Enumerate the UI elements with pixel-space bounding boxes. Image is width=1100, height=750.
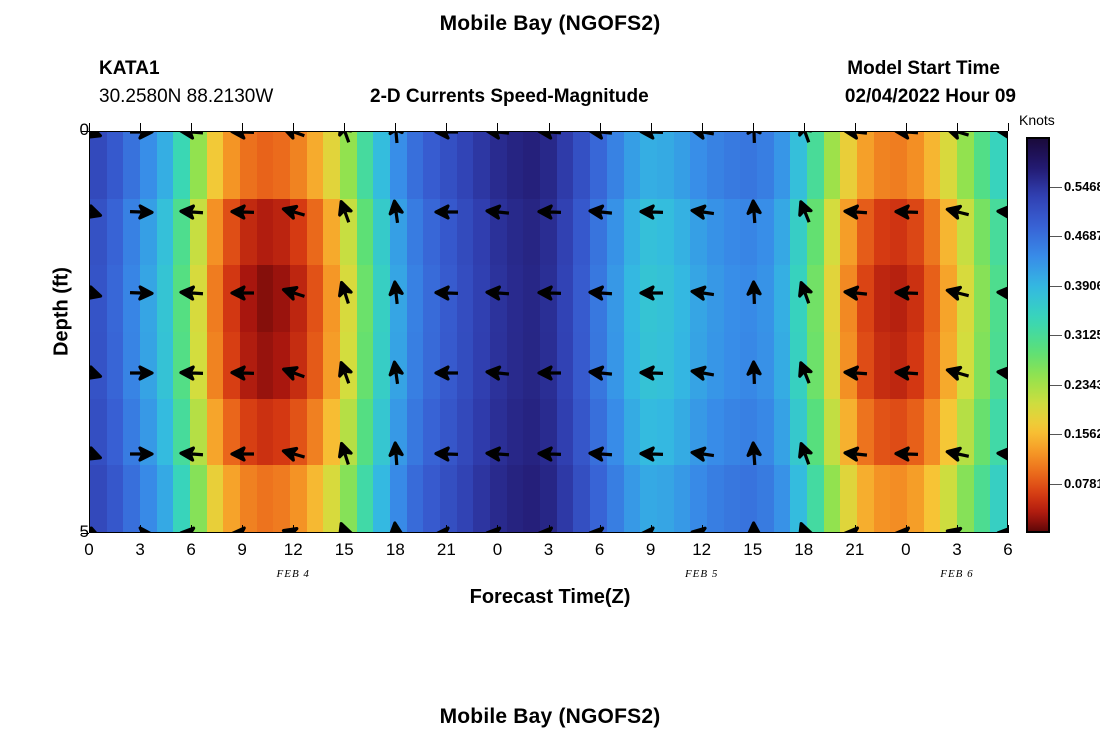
x-axis-tick-mark-top [191, 123, 192, 131]
heatmap-cell [173, 132, 190, 199]
heatmap-cell [590, 132, 607, 199]
heatmap-cell [423, 465, 440, 532]
heatmap-cell [490, 465, 507, 532]
current-vector-arrow [128, 365, 154, 381]
current-vector-arrow [537, 526, 563, 533]
heatmap-cell [257, 265, 274, 332]
current-vector-arrow [230, 446, 256, 462]
heatmap-cell [123, 132, 140, 199]
current-vector-arrow [281, 365, 307, 381]
current-vector-arrow [281, 204, 307, 220]
heatmap-cell [974, 132, 991, 199]
current-vector-arrow [843, 285, 869, 301]
current-vector-arrow [843, 204, 869, 220]
heatmap-cell [357, 265, 374, 332]
current-vector-arrow [741, 204, 767, 220]
current-vector-arrow [894, 365, 920, 381]
heatmap-cell [674, 132, 691, 199]
x-axis-tick-mark [906, 525, 907, 533]
current-vector-arrow [792, 131, 818, 140]
heatmap-cell [157, 265, 174, 332]
current-vector-arrow [434, 365, 460, 381]
heatmap-cell [340, 465, 357, 532]
current-vector-arrow [690, 365, 716, 381]
heatmap-cell [140, 465, 157, 532]
heatmap-cell [974, 332, 991, 399]
current-vector-arrow [843, 526, 869, 533]
heatmap-cell [874, 399, 891, 466]
heatmap-cell [707, 132, 724, 199]
current-vector-arrow [537, 131, 563, 140]
colorbar-tick-label: 0.3125 [1064, 327, 1100, 342]
heatmap-cell [824, 265, 841, 332]
heatmap-cell [540, 465, 557, 532]
heatmap-cell [757, 132, 774, 199]
current-vector-arrow [639, 365, 665, 381]
heatmap-cell [724, 465, 741, 532]
heatmap-cell [690, 465, 707, 532]
x-axis-tick-mark [804, 525, 805, 533]
x-axis-tick-mark [344, 525, 345, 533]
heatmap-cell [924, 132, 941, 199]
current-vector-arrow [894, 285, 920, 301]
heatmap-cell [674, 199, 691, 266]
x-axis-tick-mark-top [497, 123, 498, 131]
panel-subtitle: 2-D Currents Speed-Magnitude [370, 86, 649, 108]
x-axis-tick-label: 18 [375, 540, 415, 560]
heatmap-cell [323, 132, 340, 199]
heatmap-cell [373, 132, 390, 199]
heatmap-cell [807, 465, 824, 532]
current-vector-arrow [639, 446, 665, 462]
current-vector-arrow [434, 526, 460, 533]
heatmap-cell [724, 332, 741, 399]
heatmap-cell [890, 132, 907, 199]
x-axis-tick-mark [957, 525, 958, 533]
current-vector-arrow [281, 446, 307, 462]
heatmap-cell [490, 132, 507, 199]
current-vector-arrow [639, 204, 665, 220]
current-vector-arrow [537, 204, 563, 220]
x-axis-tick-mark [651, 525, 652, 533]
heatmap-cell [940, 465, 957, 532]
current-vector-arrow [230, 285, 256, 301]
heatmap-cell [373, 465, 390, 532]
current-vector-arrow [792, 365, 818, 381]
heatmap-cell [390, 465, 407, 532]
heatmap-cell [307, 465, 324, 532]
x-axis-tick-label: 0 [477, 540, 517, 560]
colorbar-tick-label: 0.07812 [1064, 476, 1100, 491]
current-vector-arrow [639, 131, 665, 140]
current-vector-arrow [741, 365, 767, 381]
heatmap-cell [107, 132, 124, 199]
heatmap-cell [257, 332, 274, 399]
y-axis-tick-mark [81, 533, 89, 534]
current-vector-arrow [230, 365, 256, 381]
x-axis-tick-mark [600, 525, 601, 533]
current-vector-arrow [843, 446, 869, 462]
heatmap-cell [257, 399, 274, 466]
current-vector-arrow [996, 526, 1008, 533]
current-vector-arrow [128, 526, 154, 533]
x-axis-tick-mark-top [753, 123, 754, 131]
current-vector-arrow [179, 131, 205, 140]
model-start-time-label: Model Start Time [847, 58, 1000, 80]
current-vector-arrow [894, 526, 920, 533]
current-vector-arrow [741, 446, 767, 462]
current-vector-arrow [996, 131, 1008, 140]
heatmap-cell [774, 265, 791, 332]
current-vector-arrow [485, 285, 511, 301]
current-vector-arrow [434, 204, 460, 220]
current-vector-arrow [383, 131, 409, 140]
heatmap-cell [573, 465, 590, 532]
heatmap-cell [190, 465, 207, 532]
heatmap-cell [157, 332, 174, 399]
x-axis-tick-mark-top [957, 123, 958, 131]
heatmap-cell [890, 465, 907, 532]
current-vector-arrow [179, 285, 205, 301]
x-axis-tick-mark-top [702, 123, 703, 131]
heatmap-cell [724, 199, 741, 266]
current-vector-arrow [89, 285, 103, 301]
heatmap-cell [273, 132, 290, 199]
current-vector-arrow [945, 131, 971, 140]
x-axis-tick-label: 6 [988, 540, 1028, 560]
current-vector-arrow [945, 526, 971, 533]
current-vector-arrow [945, 365, 971, 381]
x-axis-tick-mark [497, 525, 498, 533]
heatmap-cell [824, 465, 841, 532]
x-axis-tick-mark-top [293, 123, 294, 131]
heatmap-cell [307, 399, 324, 466]
x-axis-tick-mark [242, 525, 243, 533]
current-vector-arrow [894, 131, 920, 140]
x-axis-tick-mark [1008, 525, 1009, 533]
x-axis-tick-mark-top [140, 123, 141, 131]
current-vector-arrow [485, 204, 511, 220]
heatmap-cell [473, 465, 490, 532]
heatmap-cell [957, 465, 974, 532]
x-axis-tick-label: 3 [529, 540, 569, 560]
heatmap-plot-area [89, 131, 1008, 533]
current-vector-arrow [383, 526, 409, 533]
current-vector-arrow [179, 204, 205, 220]
heatmap-cell [974, 399, 991, 466]
heatmap-cell [624, 465, 641, 532]
heatmap-cell [690, 132, 707, 199]
heatmap-cell [307, 332, 324, 399]
heatmap-cell [590, 465, 607, 532]
current-vector-arrow [128, 204, 154, 220]
model-start-time-value: 02/04/2022 Hour 09 [845, 86, 1016, 108]
x-axis-tick-label: 6 [171, 540, 211, 560]
current-vector-arrow [179, 446, 205, 462]
heatmap-cell [223, 465, 240, 532]
heatmap-cell [824, 199, 841, 266]
x-axis-tick-mark-top [651, 123, 652, 131]
current-vector-arrow [537, 446, 563, 462]
colorbar-tick-label: 0.54687 [1064, 179, 1100, 194]
heatmap-cell [223, 132, 240, 199]
x-axis-tick-mark-top [549, 123, 550, 131]
x-axis-tick-mark [191, 525, 192, 533]
heatmap-cell [874, 132, 891, 199]
current-vector-arrow [741, 131, 767, 140]
current-vector-arrow [383, 365, 409, 381]
heatmap-cell [207, 332, 224, 399]
current-vector-arrow [332, 204, 358, 220]
x-axis-day-label: FEB 6 [922, 568, 992, 580]
heatmap-cell [323, 465, 340, 532]
heatmap-cell [257, 199, 274, 266]
heatmap-cell [257, 465, 274, 532]
current-vector-arrow [332, 526, 358, 533]
heatmap-cell [440, 132, 457, 199]
heatmap-cell [924, 199, 941, 266]
x-axis-tick-label: 3 [120, 540, 160, 560]
current-vector-arrow [690, 131, 716, 140]
heatmap-cell [824, 332, 841, 399]
heatmap-cell [990, 132, 1007, 199]
x-axis-tick-mark [549, 525, 550, 533]
heatmap-cell [707, 465, 724, 532]
current-vector-arrow [332, 285, 358, 301]
colorbar-tick-mark [1050, 434, 1062, 435]
current-vector-arrow [485, 365, 511, 381]
heatmap-cell [107, 399, 124, 466]
heatmap-cell [90, 132, 107, 199]
current-vector-arrow [537, 365, 563, 381]
current-vector-arrow [690, 204, 716, 220]
heatmap-depth-row [90, 132, 1007, 199]
current-vector-arrow [230, 131, 256, 140]
y-axis-tick-label: 0 [49, 120, 89, 140]
page-title: Mobile Bay (NGOFS2) [0, 12, 1100, 36]
heatmap-cell [207, 465, 224, 532]
heatmap-cell [357, 465, 374, 532]
heatmap-cell [157, 132, 174, 199]
heatmap-cell [157, 199, 174, 266]
heatmap-cell [857, 465, 874, 532]
heatmap-cell [307, 132, 324, 199]
current-vector-arrow [996, 285, 1008, 301]
heatmap-cell [624, 132, 641, 199]
heatmap-cell [857, 132, 874, 199]
x-axis-tick-label: 3 [937, 540, 977, 560]
heatmap-cell [107, 465, 124, 532]
heatmap-cell [774, 332, 791, 399]
heatmap-cell [123, 465, 140, 532]
heatmap-cell [874, 332, 891, 399]
x-axis-tick-mark [395, 525, 396, 533]
heatmap-cell [557, 465, 574, 532]
current-vector-arrow [996, 204, 1008, 220]
heatmap-cell [774, 132, 791, 199]
x-axis-tick-label: 0 [69, 540, 109, 560]
y-axis-label: Depth (ft) [51, 232, 74, 392]
x-axis-day-label: FEB 5 [667, 568, 737, 580]
heatmap-cell [840, 132, 857, 199]
heatmap-cell [307, 199, 324, 266]
heatmap-cell [724, 265, 741, 332]
current-vector-arrow [588, 204, 614, 220]
colorbar-tick-mark [1050, 484, 1062, 485]
heatmap-cell [240, 132, 257, 199]
current-vector-arrow [128, 446, 154, 462]
current-vector-arrow [281, 285, 307, 301]
heatmap-cell [90, 465, 107, 532]
current-vector-arrow [383, 446, 409, 462]
current-vector-arrow [639, 285, 665, 301]
current-vector-arrow [741, 526, 767, 533]
heatmap-cell [874, 465, 891, 532]
current-vector-arrow [89, 365, 103, 381]
colorbar-tick-mark [1050, 286, 1062, 287]
heatmap-cell [157, 399, 174, 466]
heatmap-cell [407, 465, 424, 532]
heatmap-cell [190, 132, 207, 199]
current-vector-arrow [485, 131, 511, 140]
current-vector-arrow [332, 365, 358, 381]
current-vector-arrow [179, 365, 205, 381]
heatmap-cell [674, 332, 691, 399]
x-axis-tick-mark [89, 525, 90, 533]
heatmap-cell [940, 132, 957, 199]
heatmap-cell [657, 132, 674, 199]
heatmap-cell [907, 465, 924, 532]
heatmap-cell [357, 132, 374, 199]
current-vector-arrow [434, 131, 460, 140]
current-vector-arrow [128, 131, 154, 140]
current-vector-arrow [843, 365, 869, 381]
x-axis-tick-mark [855, 525, 856, 533]
heatmap-cell [273, 465, 290, 532]
current-vector-arrow [383, 204, 409, 220]
heatmap-cell [573, 132, 590, 199]
heatmap-cell [107, 199, 124, 266]
colorbar-tick-label: 0.15625 [1064, 426, 1100, 441]
x-axis-tick-mark-top [1008, 123, 1009, 131]
colorbar-tick-label: 0.46875 [1064, 228, 1100, 243]
y-axis-tick-mark [81, 131, 89, 132]
heatmap-cell [924, 332, 941, 399]
heatmap-cell [957, 132, 974, 199]
heatmap-cell [407, 132, 424, 199]
heatmap-cell [507, 465, 524, 532]
current-vector-arrow [89, 131, 103, 140]
heatmap-cell [774, 199, 791, 266]
heatmap-cell [757, 465, 774, 532]
colorbar [1026, 137, 1050, 533]
colorbar-tick-mark [1050, 236, 1062, 237]
current-vector-arrow [230, 204, 256, 220]
heatmap-cell [357, 199, 374, 266]
x-axis-tick-label: 21 [835, 540, 875, 560]
heatmap-cell [824, 399, 841, 466]
heatmap-cell [874, 265, 891, 332]
current-vector-arrow [588, 285, 614, 301]
heatmap-cell [824, 132, 841, 199]
heatmap-cell [290, 465, 307, 532]
x-axis-tick-mark-top [395, 123, 396, 131]
current-vector-arrow [639, 526, 665, 533]
heatmap-cell [990, 465, 1007, 532]
x-axis-tick-label: 9 [631, 540, 671, 560]
x-axis-tick-label: 6 [580, 540, 620, 560]
heatmap-cell [357, 399, 374, 466]
x-axis-tick-mark-top [344, 123, 345, 131]
heatmap-cell [557, 132, 574, 199]
heatmap-cell [357, 332, 374, 399]
heatmap-cell [457, 132, 474, 199]
heatmap-cell [924, 399, 941, 466]
heatmap-cell [173, 465, 190, 532]
heatmap-cell [607, 465, 624, 532]
x-axis-tick-mark-top [855, 123, 856, 131]
heatmap-cell [924, 465, 941, 532]
x-axis-tick-mark [293, 525, 294, 533]
colorbar-tick-mark [1050, 187, 1062, 188]
heatmap-cell [523, 132, 540, 199]
heatmap-cell [240, 465, 257, 532]
current-vector-arrow [128, 285, 154, 301]
colorbar-tick-mark [1050, 385, 1062, 386]
x-axis-tick-label: 21 [426, 540, 466, 560]
x-axis-tick-mark [753, 525, 754, 533]
heatmap-cell [307, 265, 324, 332]
heatmap-cell [674, 265, 691, 332]
current-vector-arrow [332, 131, 358, 140]
station-coordinates: 30.2580N 88.2130W [99, 86, 273, 108]
heatmap-cell [290, 132, 307, 199]
heatmap-cell [107, 332, 124, 399]
heatmap-cell [523, 465, 540, 532]
current-vector-arrow [690, 285, 716, 301]
current-vector-arrow [894, 446, 920, 462]
current-vector-arrow [894, 204, 920, 220]
y-axis-tick-label: 5 [49, 522, 89, 542]
colorbar-tick-label: 0.2343 [1064, 377, 1100, 392]
x-axis-tick-label: 18 [784, 540, 824, 560]
heatmap-cell [207, 265, 224, 332]
current-vector-arrow [996, 365, 1008, 381]
heatmap-cell [724, 132, 741, 199]
station-id: KATA1 [99, 58, 160, 80]
current-vector-arrow [690, 446, 716, 462]
colorbar-title: Knots [1019, 112, 1055, 128]
heatmap-cell [974, 265, 991, 332]
heatmap-cell [257, 132, 274, 199]
heatmap-cell [790, 465, 807, 532]
heatmap-cell [607, 132, 624, 199]
current-vector-arrow [588, 365, 614, 381]
heatmap-cell [423, 132, 440, 199]
current-vector-arrow [89, 526, 103, 533]
current-vector-arrow [996, 446, 1008, 462]
current-vector-arrow [690, 526, 716, 533]
heatmap-cell [657, 465, 674, 532]
heatmap-cell [724, 399, 741, 466]
current-vector-arrow [89, 446, 103, 462]
current-vector-arrow [945, 285, 971, 301]
heatmap-cell [640, 132, 657, 199]
heatmap-cell [924, 265, 941, 332]
current-vector-arrow [588, 446, 614, 462]
current-vector-arrow [434, 285, 460, 301]
current-vector-arrow [281, 526, 307, 533]
